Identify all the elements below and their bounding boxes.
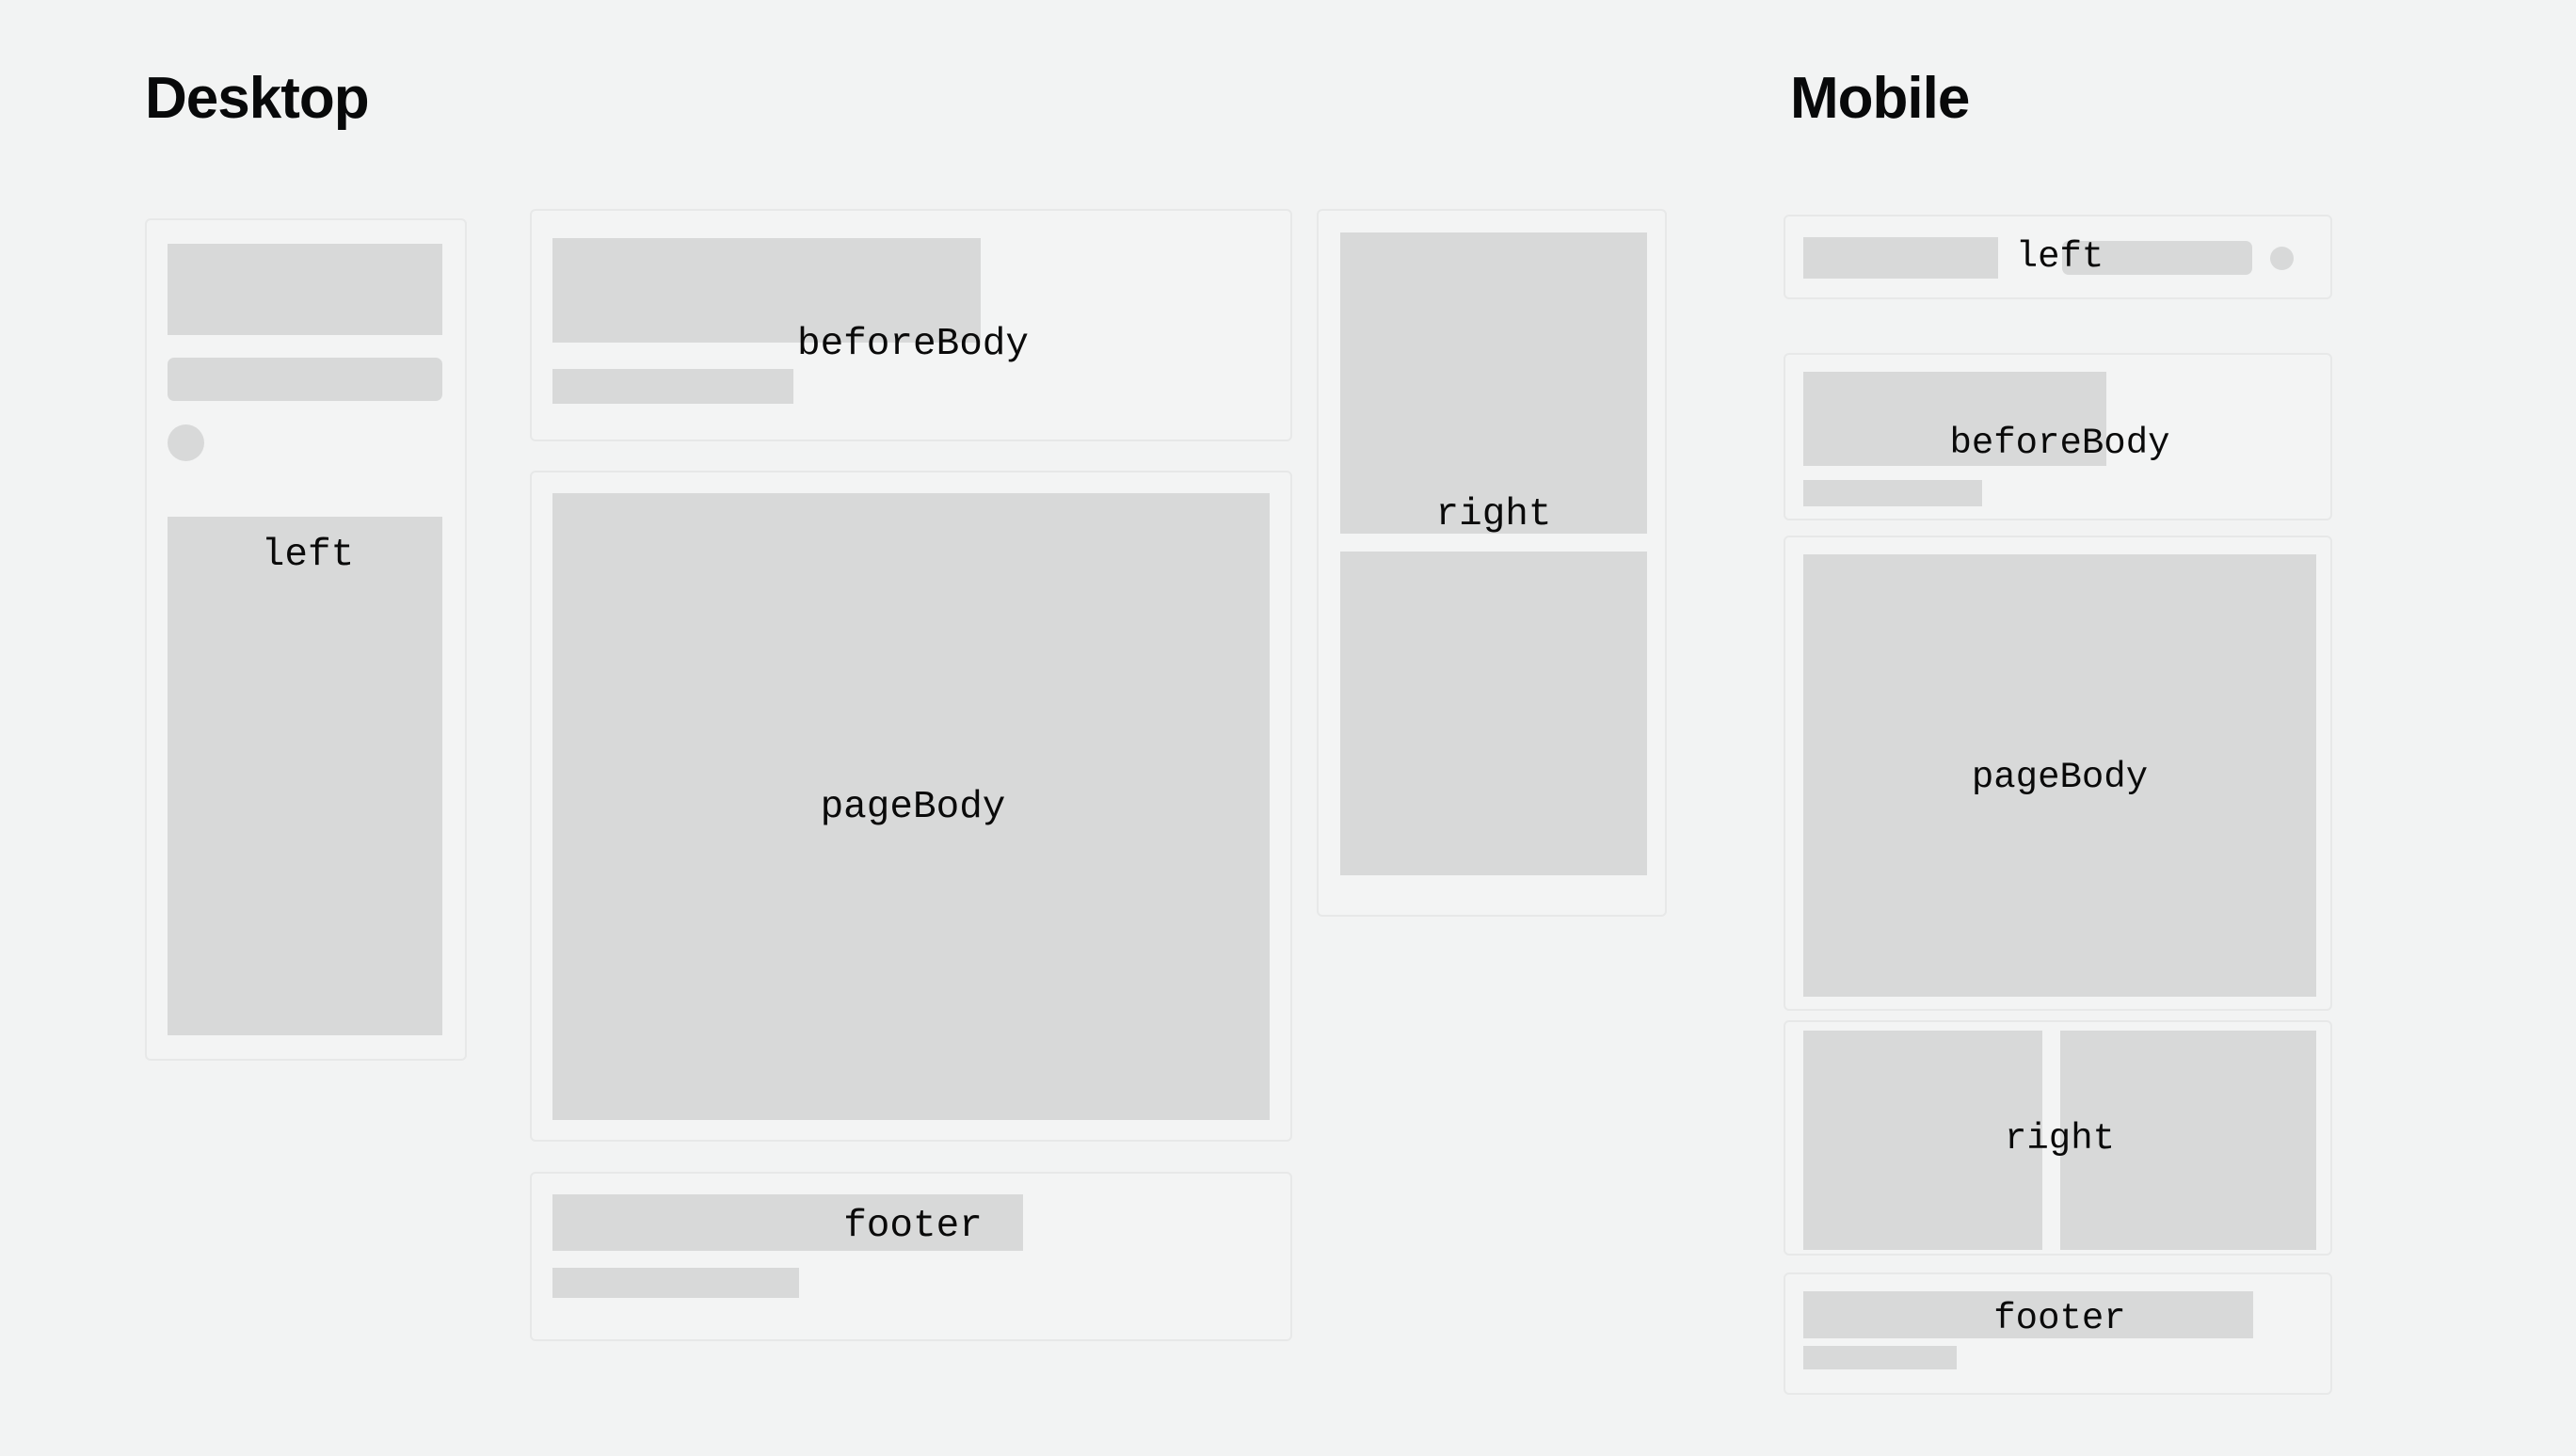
desktop-footer-secondary-block	[552, 1268, 799, 1298]
mobile-region-beforebody[interactable]: beforeBody	[1784, 353, 2332, 520]
desktop-beforebody-label: beforeBody	[532, 326, 1294, 364]
desktop-region-pagebody[interactable]: pageBody	[530, 471, 1292, 1142]
desktop-beforebody-secondary-block	[552, 369, 793, 404]
desktop-right-bottom-block	[1340, 552, 1647, 875]
mobile-footer-label: footer	[1785, 1301, 2334, 1337]
mobile-pagebody-label: pageBody	[1785, 760, 2334, 796]
desktop-region-beforebody[interactable]: beforeBody	[530, 209, 1292, 441]
mobile-section-title: Mobile	[1790, 70, 1969, 128]
desktop-footer-label: footer	[532, 1208, 1294, 1246]
mobile-beforebody-secondary-block	[1803, 480, 1982, 506]
desktop-left-subheader-block	[168, 358, 442, 401]
desktop-left-body-block	[168, 517, 442, 1035]
desktop-right-top-block	[1340, 232, 1647, 534]
desktop-left-avatar-dot	[168, 424, 204, 461]
desktop-region-left[interactable]: left	[145, 218, 467, 1061]
desktop-right-label: right	[1319, 496, 1669, 535]
mobile-footer-secondary-block	[1803, 1346, 1957, 1369]
mobile-left-label: left	[1785, 239, 2334, 276]
mobile-region-footer[interactable]: footer	[1784, 1272, 2332, 1395]
mobile-right-label: right	[1785, 1121, 2334, 1158]
desktop-pagebody-label: pageBody	[532, 789, 1294, 827]
desktop-left-label: left	[147, 536, 469, 575]
mobile-region-pagebody[interactable]: pageBody	[1784, 536, 2332, 1011]
desktop-section-title: Desktop	[145, 70, 369, 128]
mobile-beforebody-label: beforeBody	[1785, 425, 2334, 462]
mobile-region-right[interactable]: right	[1784, 1020, 2332, 1256]
desktop-left-header-block	[168, 244, 442, 335]
desktop-region-footer[interactable]: footer	[530, 1172, 1292, 1341]
desktop-region-right[interactable]: right	[1317, 209, 1667, 917]
mobile-region-left[interactable]: left	[1784, 215, 2332, 299]
